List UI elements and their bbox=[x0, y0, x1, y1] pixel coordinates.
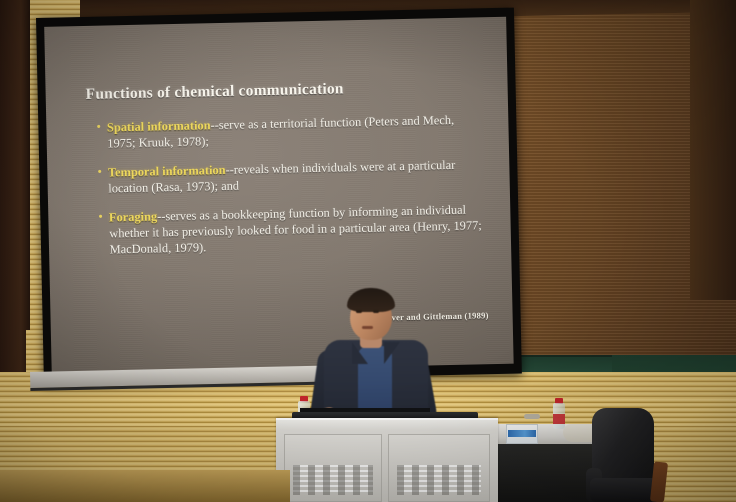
slide-bullet-3-rest: --serves as a bookkeeping function by in… bbox=[109, 202, 482, 257]
lecture-hall-photo: Functions of chemical communication • Sp… bbox=[0, 0, 736, 502]
white-lectern bbox=[276, 418, 498, 502]
tissue-box bbox=[506, 424, 538, 444]
slide-bullet-1-term: Spatial information bbox=[107, 118, 211, 134]
slide-bullet-3-term: Foraging bbox=[109, 209, 157, 224]
slide-bullet-1-body: Spatial information--serve as a territor… bbox=[107, 111, 481, 152]
lectern-vent-grille bbox=[293, 465, 373, 495]
bullet-marker-icon: • bbox=[96, 120, 101, 153]
slide-bullet-2: • Temporal information--reveals when ind… bbox=[81, 156, 482, 197]
desk-small-object bbox=[524, 414, 540, 419]
lectern-panel-right bbox=[388, 434, 490, 502]
bottle-label bbox=[553, 414, 565, 424]
lectern-panel-left bbox=[284, 434, 382, 502]
screen-surface: Functions of chemical communication • Sp… bbox=[44, 17, 513, 374]
presenter-collar-right bbox=[384, 342, 400, 364]
dark-wall-right bbox=[690, 0, 736, 300]
slide-bullet-2-body: Temporal information--reveals when indiv… bbox=[108, 156, 482, 197]
lectern-vent-grille bbox=[397, 465, 481, 495]
presenter-eye-left bbox=[356, 310, 362, 313]
presentation-slide: Functions of chemical communication • Sp… bbox=[44, 17, 513, 374]
bullet-marker-icon: • bbox=[98, 209, 104, 258]
projection-screen: Functions of chemical communication • Sp… bbox=[36, 8, 522, 384]
slide-bullet-2-term: Temporal information bbox=[108, 163, 226, 180]
presenter-eye-right bbox=[373, 310, 379, 313]
slide-bullet-3: • Foraging--serves as a bookkeeping func… bbox=[82, 201, 483, 259]
presenter-mouth bbox=[362, 326, 373, 329]
tissue-box-stripe bbox=[508, 430, 536, 437]
slide-title: Functions of chemical communication bbox=[85, 77, 479, 104]
bullet-marker-icon: • bbox=[97, 164, 102, 197]
foreground-floor bbox=[0, 470, 290, 502]
slide-bullet-1: • Spatial information--serve as a territ… bbox=[80, 111, 481, 152]
presenter-hair bbox=[347, 288, 395, 312]
slide-bullet-3-body: Foraging--serves as a bookkeeping functi… bbox=[109, 201, 483, 258]
